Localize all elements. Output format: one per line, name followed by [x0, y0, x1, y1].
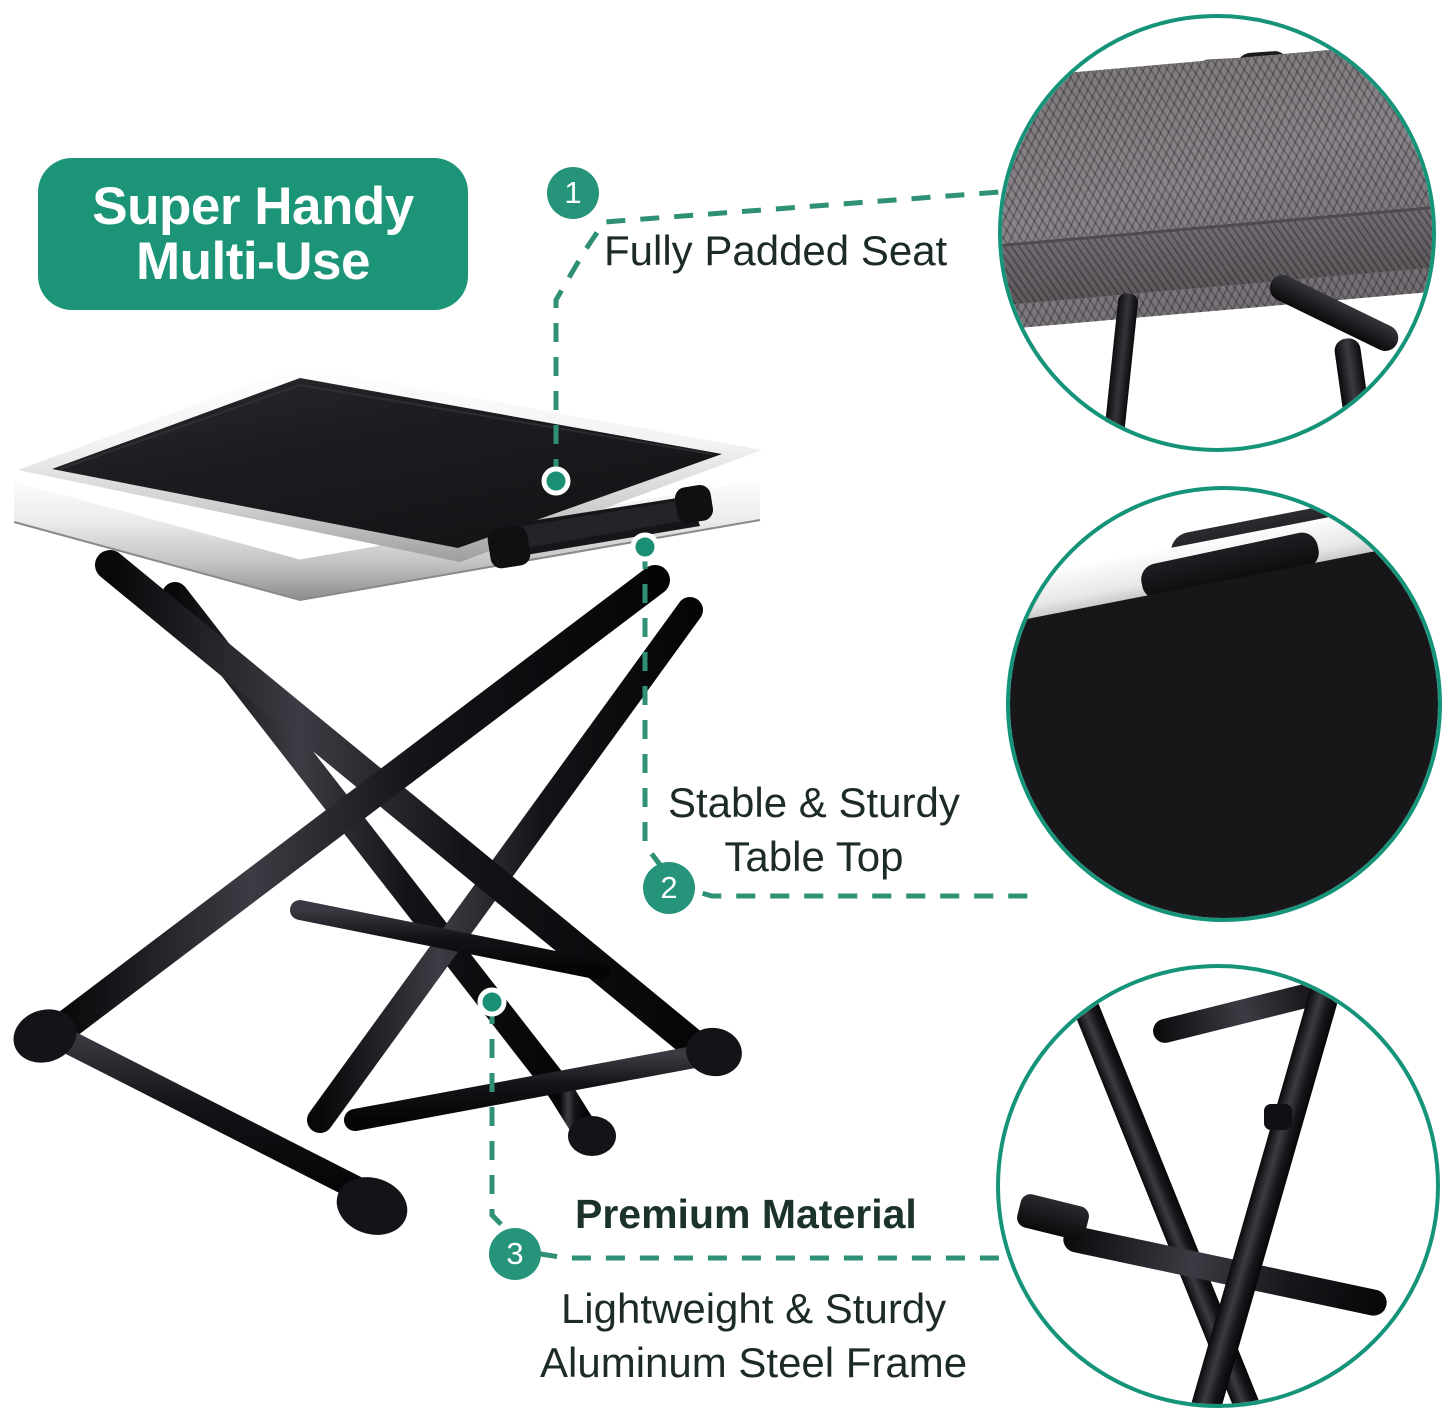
- callout-label-1: Fully Padded Seat: [604, 224, 947, 278]
- callout-label-2-line-2: Table Top: [668, 830, 960, 884]
- frame-pivot-knob-icon: [1264, 1104, 1292, 1130]
- seat-leg-right-lower: [1333, 337, 1377, 452]
- callout-label-2-line-1: Stable & Sturdy: [668, 776, 960, 830]
- callout-heading-3: Premium Material: [575, 1188, 917, 1240]
- callout-number-1: 1: [547, 167, 599, 219]
- detail-photo-x-frame: [996, 964, 1440, 1408]
- callout-label-3-line-2: Aluminum Steel Frame: [540, 1336, 967, 1390]
- detail-photo-padded-seat: [998, 14, 1436, 452]
- headline-line-1: Super Handy: [92, 179, 413, 234]
- frame-end-cap: [1015, 1192, 1091, 1242]
- headline-line-2: Multi-Use: [136, 234, 370, 289]
- frame-top-crossbar: [1151, 967, 1380, 1046]
- infographic-canvas: Super Handy Multi-Use 1 2 3 Fully Padded…: [0, 0, 1445, 1424]
- callout-number-3: 3: [489, 1228, 541, 1280]
- callout-label-3: Lightweight & Sturdy Aluminum Steel Fram…: [540, 1282, 967, 1390]
- headline-badge: Super Handy Multi-Use: [38, 158, 468, 310]
- detail-photo-table-top-corner: [1006, 486, 1442, 922]
- callout-label-3-line-1: Lightweight & Sturdy: [540, 1282, 967, 1336]
- callout-label-2: Stable & Sturdy Table Top: [668, 776, 960, 884]
